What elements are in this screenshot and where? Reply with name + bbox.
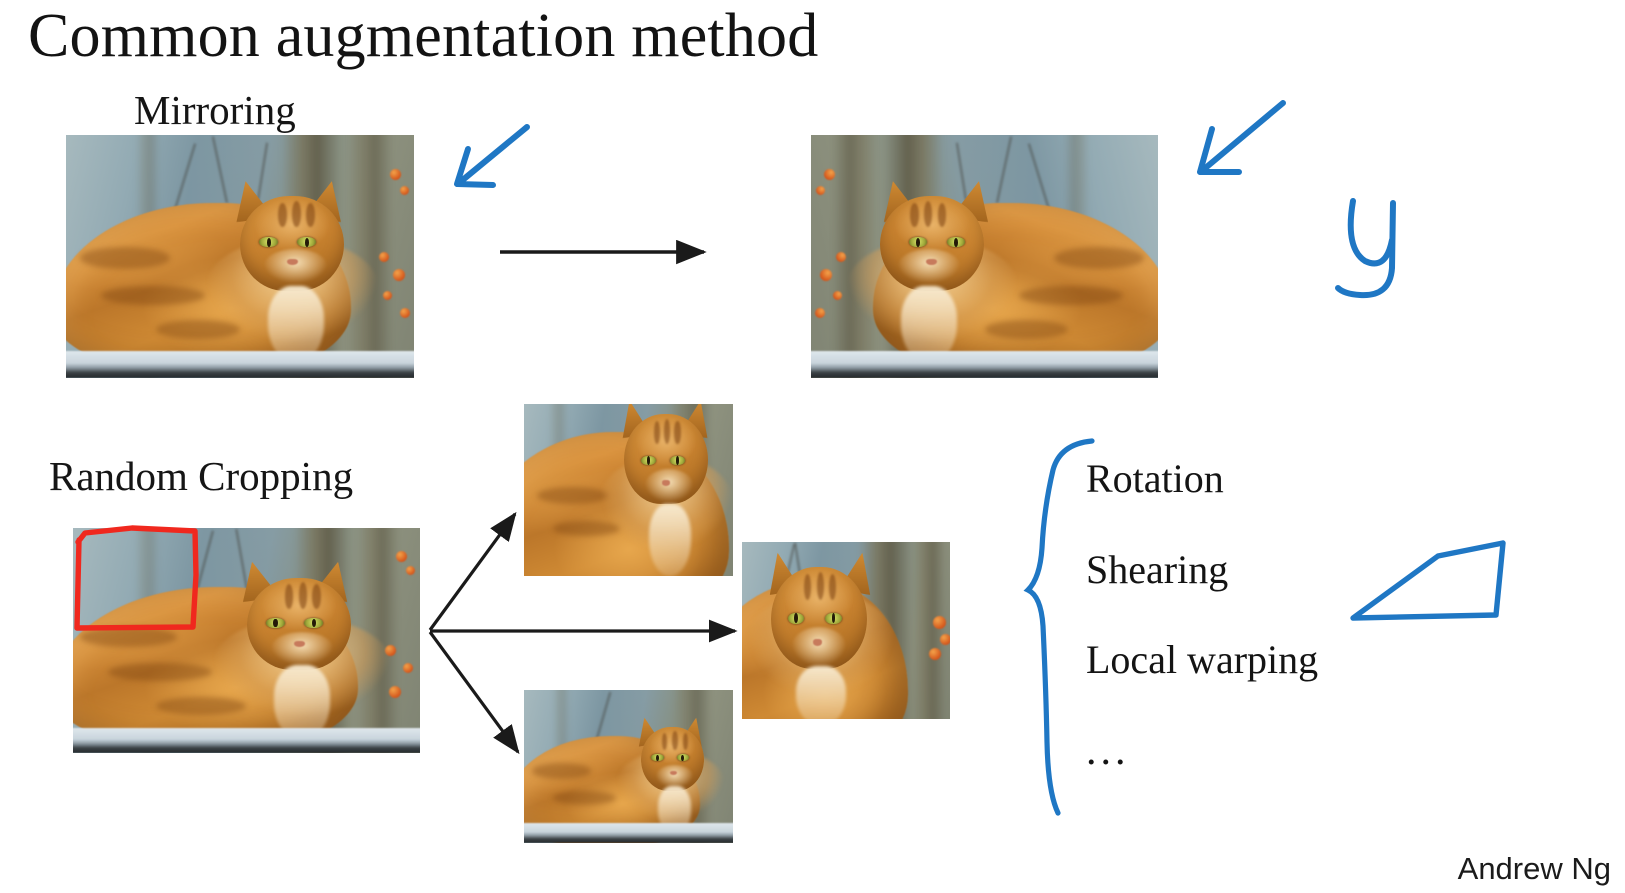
methods-brace	[1028, 441, 1092, 813]
mirroring-result-image	[811, 135, 1158, 378]
shear-parallelogram-sketch	[1353, 543, 1503, 618]
crop-thumbnail-1	[524, 404, 733, 576]
crop-thumbnail-2	[742, 542, 950, 719]
blue-arrow-left-icon	[457, 127, 527, 185]
crop-thumbnail-3	[524, 690, 733, 843]
cropping-source-image	[73, 528, 420, 753]
slide-canvas: Common augmentation method Mirroring Ran…	[0, 0, 1625, 893]
mirroring-source-image	[66, 135, 414, 378]
section-label-random-cropping: Random Cropping	[49, 452, 353, 500]
methods-list-item-shearing: Shearing	[1086, 546, 1228, 593]
section-label-mirroring: Mirroring	[134, 86, 296, 134]
methods-list-item-local-warping: Local warping	[1086, 636, 1318, 683]
author-signature: Andrew Ng	[1458, 851, 1611, 887]
crop-arrow-up	[430, 514, 515, 630]
blue-arrow-right-icon	[1200, 103, 1283, 172]
handwritten-y-annotation	[1338, 201, 1393, 295]
methods-list-item-ellipsis: ...	[1086, 727, 1130, 775]
page-title: Common augmentation method	[28, 4, 818, 69]
crop-arrow-down	[430, 632, 518, 752]
methods-list-item-rotation: Rotation	[1086, 455, 1224, 502]
